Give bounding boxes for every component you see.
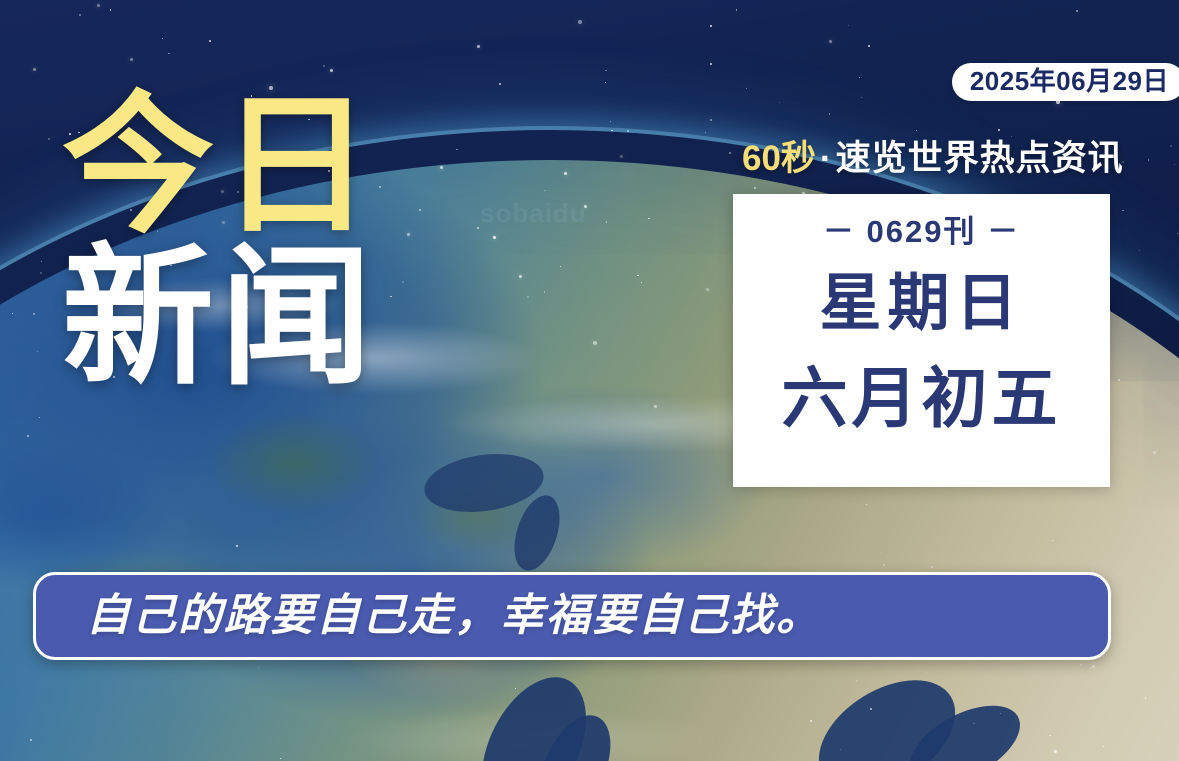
page-title: 今日 新闻 — [62, 96, 378, 388]
card-weekday: 星期日 — [819, 273, 1023, 335]
page-title-line-1: 今日 — [62, 96, 378, 236]
tagline: 60秒·速览世界热点资讯 — [742, 141, 1124, 176]
quote-bar: 自己的路要自己走，幸福要自己找。 — [33, 572, 1111, 660]
tagline-text: 速览世界热点资讯 — [836, 139, 1124, 178]
date-info-card: － 0629刊 － 星期日 六月初五 — [733, 194, 1110, 487]
news-poster: sobaidu 2025年06月29日 今日 新闻 60秒·速览世界热点资讯 －… — [0, 0, 1179, 761]
tagline-highlight: 60秒 — [742, 139, 816, 178]
quote-text: 自己的路要自己走，幸福要自己找。 — [86, 594, 822, 638]
background-watermark: sobaidu — [480, 198, 587, 229]
card-issue-number: － 0629刊 － — [823, 216, 1020, 247]
date-badge: 2025年06月29日 — [952, 63, 1179, 101]
page-title-line-2: 新闻 — [62, 248, 378, 388]
card-lunar-date: 六月初五 — [782, 365, 1062, 431]
tagline-separator: · — [816, 139, 836, 178]
